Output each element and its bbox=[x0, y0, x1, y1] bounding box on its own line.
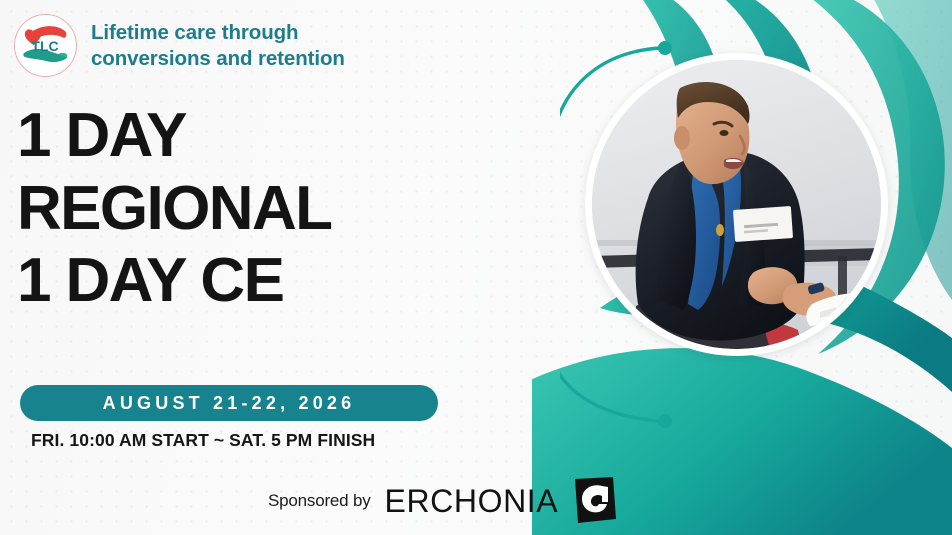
headline-line-3: 1 DAY CE bbox=[17, 251, 331, 311]
speaker-photo bbox=[592, 60, 881, 349]
brand-tagline: Lifetime care through conversions and re… bbox=[91, 20, 345, 71]
sponsor-row: Sponsored by ERCHONIA bbox=[268, 478, 616, 524]
tlc-logo: TLC bbox=[14, 14, 77, 77]
erchonia-wordmark: ERCHONIA bbox=[385, 485, 559, 517]
event-promo-banner: TLC Lifetime care through conversions an… bbox=[0, 0, 952, 535]
page-title: 1 DAY REGIONAL 1 DAY CE bbox=[17, 106, 331, 311]
erchonia-e-mark bbox=[572, 477, 616, 523]
headline-line-2: REGIONAL bbox=[17, 179, 331, 239]
event-date-badge: AUGUST 21-22, 2026 bbox=[20, 385, 438, 421]
tlc-monogram: TLC bbox=[31, 38, 58, 54]
sponsored-by-label: Sponsored by bbox=[268, 491, 371, 511]
brand-header: TLC Lifetime care through conversions an… bbox=[14, 14, 345, 77]
event-time-line: FRI. 10:00 AM START ~ SAT. 5 PM FINISH bbox=[31, 430, 375, 451]
headline-line-1: 1 DAY bbox=[17, 106, 331, 166]
